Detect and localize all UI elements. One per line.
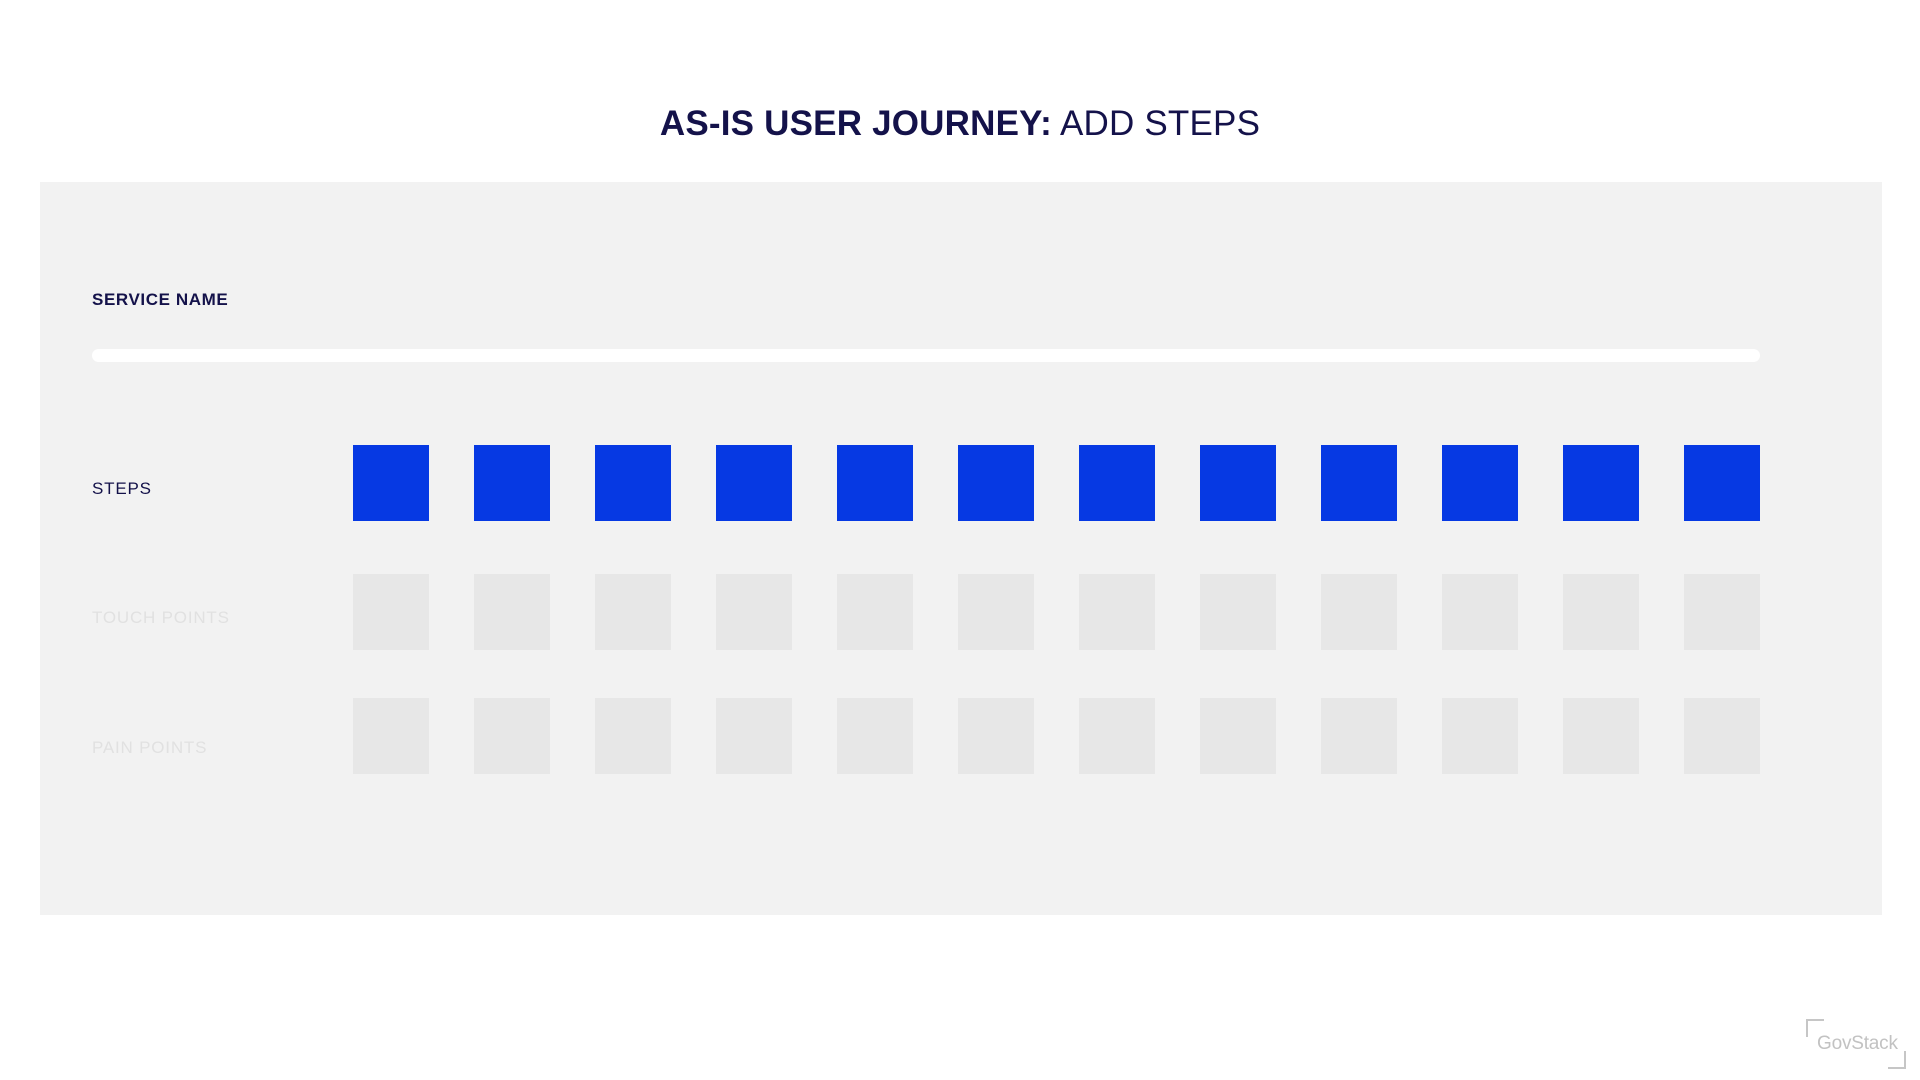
step-cell[interactable] xyxy=(1321,445,1397,521)
touch-point-cell[interactable] xyxy=(1079,574,1155,650)
pain-point-cell[interactable] xyxy=(1442,698,1518,774)
touch-point-cell[interactable] xyxy=(1563,574,1639,650)
touch-point-cell[interactable] xyxy=(958,574,1034,650)
steps-cell-row xyxy=(353,445,1760,521)
step-cell[interactable] xyxy=(1563,445,1639,521)
touch-point-cell[interactable] xyxy=(716,574,792,650)
journey-panel xyxy=(40,182,1882,915)
step-cell[interactable] xyxy=(1442,445,1518,521)
touch-point-cell[interactable] xyxy=(1321,574,1397,650)
touch-point-cell[interactable] xyxy=(1442,574,1518,650)
page-title-light: ADD STEPS xyxy=(1052,104,1260,143)
pain-point-cell[interactable] xyxy=(837,698,913,774)
row-label-touch-points: TOUCH POINTS xyxy=(92,608,230,628)
page-title-strong: AS-IS USER JOURNEY: xyxy=(660,104,1052,143)
pain-point-cell[interactable] xyxy=(595,698,671,774)
row-label-steps: STEPS xyxy=(92,479,152,499)
touch-point-cell[interactable] xyxy=(353,574,429,650)
pain-point-cell[interactable] xyxy=(1079,698,1155,774)
pain-point-cell[interactable] xyxy=(1563,698,1639,774)
step-cell[interactable] xyxy=(1684,445,1760,521)
pain-point-cell[interactable] xyxy=(716,698,792,774)
pain-point-cell[interactable] xyxy=(474,698,550,774)
touch-point-cell[interactable] xyxy=(595,574,671,650)
pain-point-cell[interactable] xyxy=(1321,698,1397,774)
govstack-logo: GovStack xyxy=(1806,1019,1906,1069)
service-name-input[interactable] xyxy=(92,349,1760,362)
step-cell[interactable] xyxy=(837,445,913,521)
step-cell[interactable] xyxy=(474,445,550,521)
row-label-pain-points: PAIN POINTS xyxy=(92,738,207,758)
pain-point-cell[interactable] xyxy=(958,698,1034,774)
step-cell[interactable] xyxy=(1079,445,1155,521)
step-cell[interactable] xyxy=(958,445,1034,521)
page-title: AS-IS USER JOURNEY: ADD STEPS xyxy=(0,103,1920,145)
govstack-wordmark: GovStack xyxy=(1817,1033,1898,1055)
touch-points-cell-row xyxy=(353,574,1760,650)
step-cell[interactable] xyxy=(1200,445,1276,521)
journey-map-slide: AS-IS USER JOURNEY: ADD STEPS SERVICE NA… xyxy=(0,0,1920,1080)
pain-points-cell-row xyxy=(353,698,1760,774)
touch-point-cell[interactable] xyxy=(837,574,913,650)
pain-point-cell[interactable] xyxy=(353,698,429,774)
touch-point-cell[interactable] xyxy=(1200,574,1276,650)
step-cell[interactable] xyxy=(595,445,671,521)
touch-point-cell[interactable] xyxy=(1684,574,1760,650)
pain-point-cell[interactable] xyxy=(1200,698,1276,774)
service-name-label: SERVICE NAME xyxy=(92,290,228,310)
touch-point-cell[interactable] xyxy=(474,574,550,650)
pain-point-cell[interactable] xyxy=(1684,698,1760,774)
step-cell[interactable] xyxy=(353,445,429,521)
step-cell[interactable] xyxy=(716,445,792,521)
